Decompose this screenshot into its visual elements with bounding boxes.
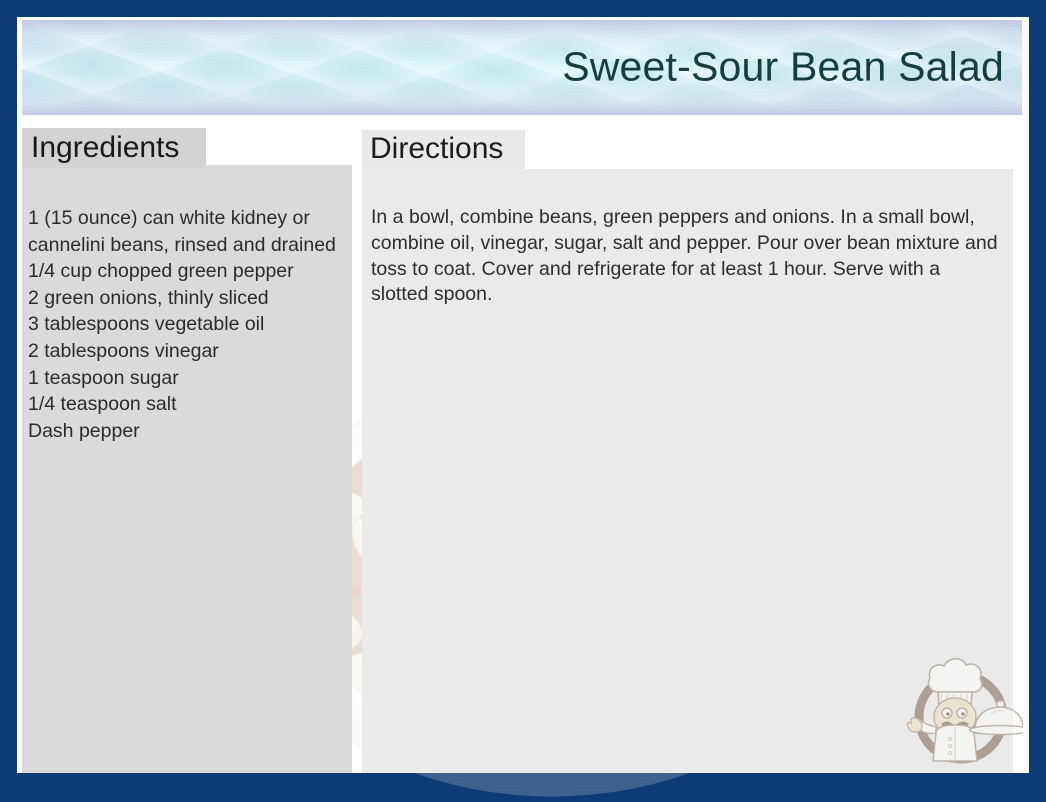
page-title: Sweet-Sour Bean Salad xyxy=(562,43,1004,90)
list-item: 2 tablespoons vinegar xyxy=(28,338,348,365)
directions-heading-tab: Directions xyxy=(362,130,525,170)
list-item: 1 (15 ounce) can white kidney or canneli… xyxy=(28,205,348,258)
directions-text: In a bowl, combine beans, green peppers … xyxy=(371,205,999,308)
list-item: 2 green onions, thinly sliced xyxy=(28,285,348,312)
directions-panel: In a bowl, combine beans, green peppers … xyxy=(362,169,1013,773)
recipe-slide: Sweet-Sour Bean Salad xyxy=(0,0,1046,792)
title-banner: Sweet-Sour Bean Salad xyxy=(22,20,1022,115)
ingredients-heading-tab: Ingredients xyxy=(22,128,206,168)
ingredients-list: 1 (15 ounce) can white kidney or canneli… xyxy=(28,205,348,444)
list-item: 3 tablespoons vegetable oil xyxy=(28,311,348,338)
list-item: 1/4 cup chopped green pepper xyxy=(28,258,348,285)
ingredients-heading: Ingredients xyxy=(31,131,179,165)
list-item: Dash pepper xyxy=(28,418,348,445)
list-item: 1/4 teaspoon salt xyxy=(28,391,348,418)
slide-content-area: Sweet-Sour Bean Salad xyxy=(17,17,1029,773)
directions-heading: Directions xyxy=(370,132,503,166)
list-item: 1 teaspoon sugar xyxy=(28,365,348,392)
ingredients-panel: 1 (15 ounce) can white kidney or canneli… xyxy=(22,165,352,773)
